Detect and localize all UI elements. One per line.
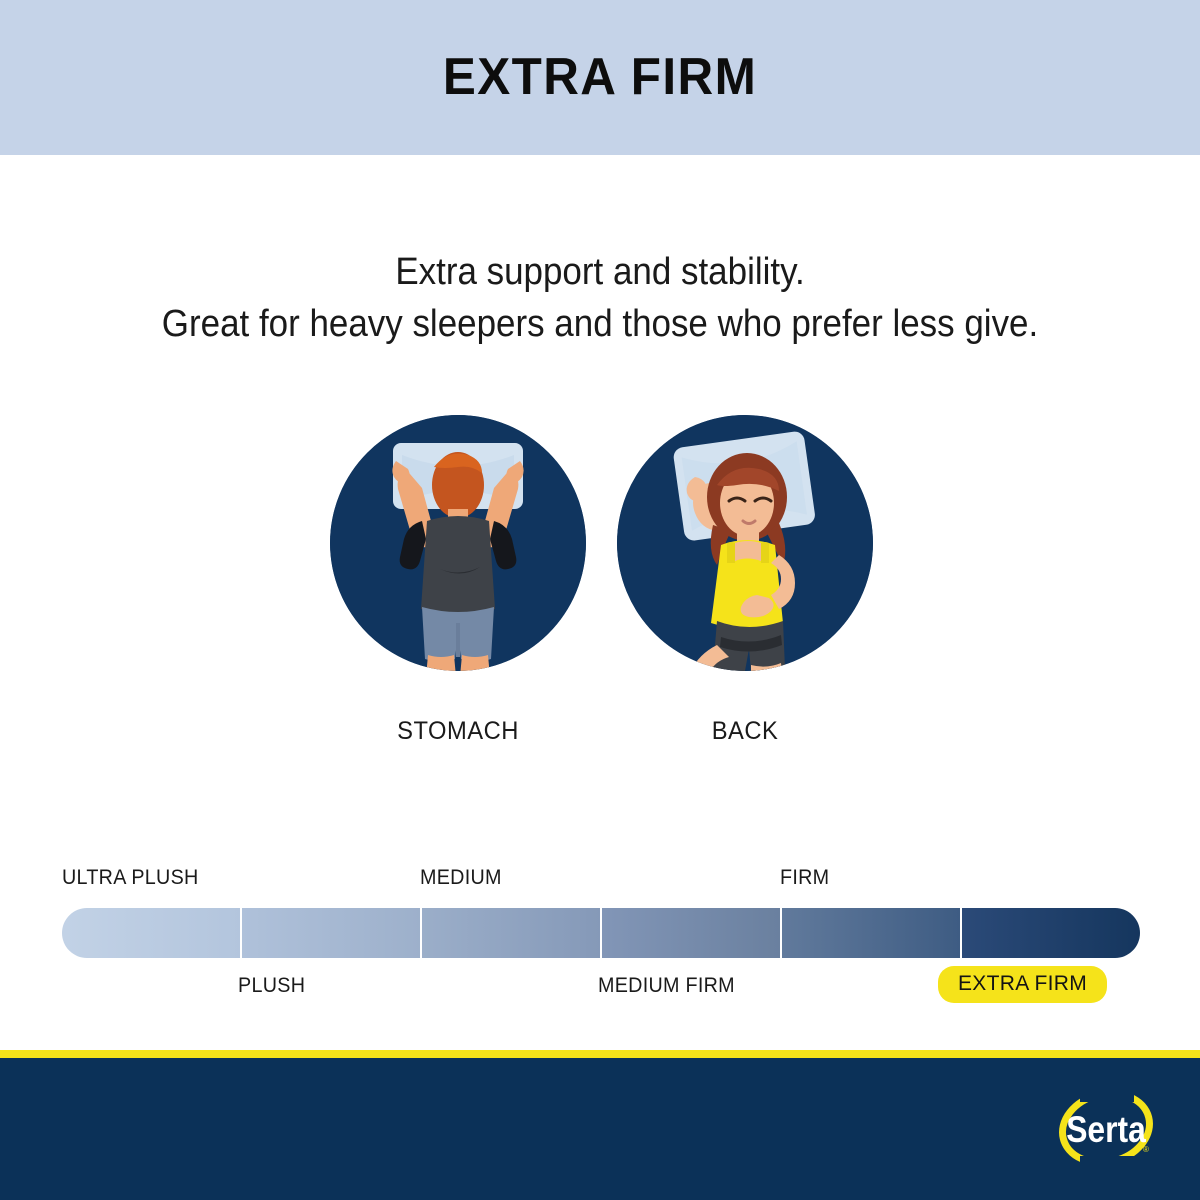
back-sleeper-icon — [617, 415, 873, 671]
sleeper-label-stomach: STOMACH — [336, 717, 579, 746]
subtitle-line-2: Great for heavy sleepers and those who p… — [48, 298, 1152, 350]
scale-segment-extra-firm[interactable] — [962, 908, 1140, 958]
footer-bar: Serta ® — [0, 1058, 1200, 1200]
scale-label-medium: MEDIUM — [420, 866, 502, 890]
serta-logo: Serta ® — [1050, 1080, 1162, 1180]
subtitle-line-1: Extra support and stability. — [48, 246, 1152, 298]
firmness-scale-bar[interactable] — [62, 908, 1140, 958]
page-title: EXTRA FIRM — [30, 48, 1170, 106]
scale-segment-medium[interactable] — [422, 908, 602, 958]
scale-label-ultra-plush: ULTRA PLUSH — [62, 866, 199, 890]
svg-text:®: ® — [1143, 1145, 1149, 1154]
scale-segment-firm[interactable] — [782, 908, 962, 958]
firmness-scale: ULTRA PLUSH MEDIUM FIRM PLUSH MEDIUM FIR… — [62, 866, 1140, 1006]
sleeper-card-stomach: STOMACH — [330, 415, 586, 746]
sleeper-positions-group: STOMACH — [0, 415, 1200, 745]
scale-label-extra-firm-selected[interactable]: EXTRA FIRM — [938, 966, 1107, 1003]
scale-label-plush: PLUSH — [238, 974, 305, 998]
footer-accent-stripe — [0, 1050, 1200, 1058]
sleeper-card-back: BACK — [617, 415, 873, 746]
svg-text:Serta: Serta — [1066, 1110, 1146, 1151]
sleeper-label-back: BACK — [623, 717, 866, 746]
subtitle-block: Extra support and stability. Great for h… — [48, 246, 1152, 350]
scale-label-medium-firm: MEDIUM FIRM — [598, 974, 735, 998]
scale-label-firm: FIRM — [780, 866, 829, 890]
scale-segment-ultra-plush[interactable] — [62, 908, 242, 958]
scale-segment-plush[interactable] — [242, 908, 422, 958]
page-root: EXTRA FIRM Extra support and stability. … — [0, 0, 1200, 1200]
stomach-sleeper-icon — [330, 415, 586, 671]
scale-segment-medium-firm[interactable] — [602, 908, 782, 958]
